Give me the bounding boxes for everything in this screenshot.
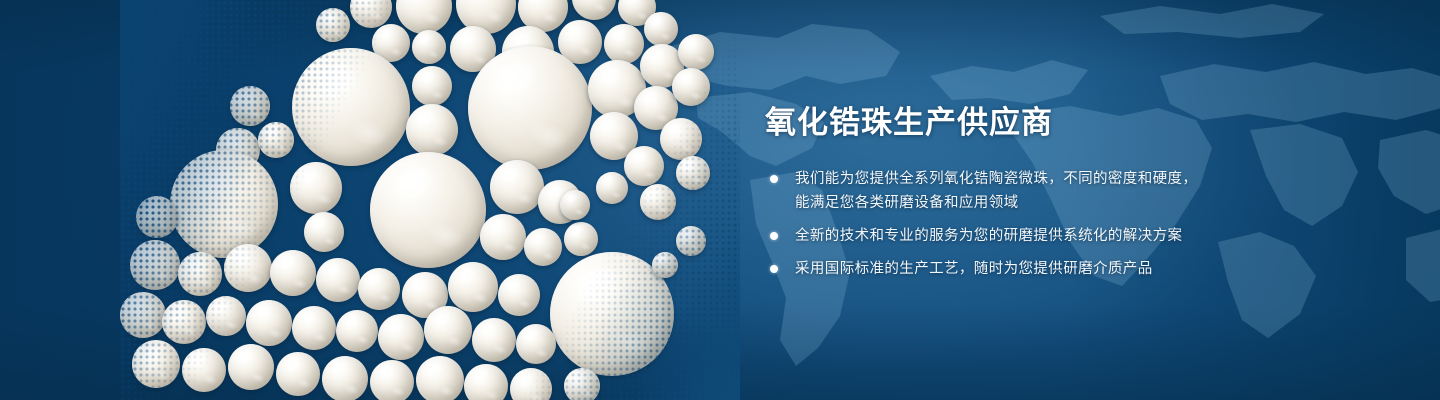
bead — [358, 268, 400, 310]
bead — [678, 34, 714, 70]
bead — [182, 348, 226, 392]
bead — [246, 300, 292, 346]
bead-large — [292, 48, 410, 166]
list-item-line2: 能满足您各类研磨设备和应用领域 — [795, 191, 1285, 215]
bead — [416, 356, 464, 400]
bead — [448, 262, 498, 312]
banner-content: 氧化锆珠生产供应商 我们能为您提供全系列氧化锆陶瓷微珠，不同的密度和硬度， 能满… — [765, 104, 1285, 281]
bead — [510, 368, 552, 400]
feature-list: 我们能为您提供全系列氧化锆陶瓷微珠，不同的密度和硬度， 能满足您各类研磨设备和应… — [765, 167, 1285, 281]
bead — [596, 172, 628, 204]
bead — [258, 122, 294, 158]
bead — [464, 364, 508, 400]
bead — [228, 344, 274, 390]
list-item: 采用国际标准的生产工艺，随时为您提供研磨介质产品 — [765, 257, 1285, 281]
bead — [676, 226, 706, 256]
bead — [660, 118, 702, 160]
bead — [322, 356, 368, 400]
bead — [498, 274, 540, 316]
bead — [206, 296, 246, 336]
bead — [130, 240, 180, 290]
list-item: 我们能为您提供全系列氧化锆陶瓷微珠，不同的密度和硬度， 能满足您各类研磨设备和应… — [765, 167, 1285, 215]
bead — [290, 162, 342, 214]
bead — [624, 146, 664, 186]
bead — [304, 212, 344, 252]
bead — [132, 340, 180, 388]
bead — [604, 24, 644, 64]
bead — [378, 314, 424, 360]
bead — [162, 300, 206, 344]
bead — [412, 66, 452, 106]
bead — [672, 68, 710, 106]
bead — [424, 306, 472, 354]
bead-cluster — [120, 0, 740, 400]
bead — [564, 222, 598, 256]
list-item-line1: 采用国际标准的生产工艺，随时为您提供研磨介质产品 — [795, 261, 1153, 277]
bead — [292, 306, 336, 350]
bead-large — [370, 152, 486, 268]
bead — [564, 368, 600, 400]
bead — [652, 252, 678, 278]
page-title: 氧化锆珠生产供应商 — [765, 104, 1285, 141]
bead — [178, 252, 222, 296]
bead — [276, 352, 320, 396]
list-item-line1: 全新的技术和专业的服务为您的研磨提供系统化的解决方案 — [795, 228, 1182, 244]
bead-large — [170, 150, 278, 258]
bead — [370, 360, 414, 400]
bead — [516, 324, 556, 364]
bullet-dot-icon — [770, 232, 778, 240]
list-item-line1: 我们能为您提供全系列氧化锆陶瓷微珠，不同的密度和硬度， — [795, 171, 1197, 187]
bead — [412, 30, 446, 64]
bead — [136, 196, 178, 238]
bullet-dot-icon — [770, 265, 778, 273]
bead — [524, 228, 562, 266]
bead-large — [468, 46, 592, 170]
list-item: 全新的技术和专业的服务为您的研磨提供系统化的解决方案 — [765, 224, 1285, 248]
bullet-dot-icon — [770, 175, 778, 183]
bead — [676, 156, 710, 190]
bead — [490, 160, 544, 214]
bead — [406, 104, 458, 156]
bead — [560, 190, 590, 220]
bead — [640, 184, 676, 220]
bead — [120, 292, 166, 338]
bead — [480, 214, 526, 260]
hero-banner: 氧化锆珠生产供应商 我们能为您提供全系列氧化锆陶瓷微珠，不同的密度和硬度， 能满… — [0, 0, 1440, 400]
bead — [316, 8, 350, 42]
bead — [472, 318, 516, 362]
bead — [644, 12, 678, 46]
bead — [316, 258, 360, 302]
bead — [336, 310, 378, 352]
bead — [230, 86, 270, 126]
bead — [224, 244, 272, 292]
zirconia-beads-photo — [120, 0, 740, 400]
bead — [572, 0, 616, 20]
bead — [270, 250, 316, 296]
